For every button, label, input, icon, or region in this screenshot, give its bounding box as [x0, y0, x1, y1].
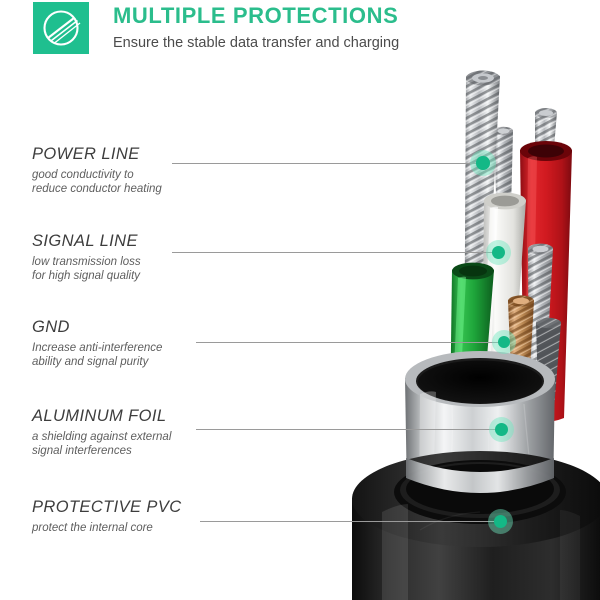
marker-core — [494, 515, 507, 528]
callout-power-line: POWER LINE good conductivity to reduce c… — [32, 145, 162, 196]
callout-protective-pvc-title: PROTECTIVE PVC — [32, 498, 182, 517]
callout-aluminum-foil-desc-line2: signal interferences — [32, 445, 171, 459]
leader-line-protective-pvc — [200, 521, 495, 522]
protective-pvc-marker-dot — [488, 509, 513, 534]
callout-aluminum-foil-title: ALUMINUM FOIL — [32, 407, 171, 426]
marker-core — [492, 246, 505, 259]
callout-signal-line-desc-line2: for high signal quality — [32, 270, 141, 284]
callout-gnd-desc-line1: Increase anti-interference — [32, 342, 162, 356]
callout-signal-line: SIGNAL LINE low transmission loss for hi… — [32, 232, 141, 283]
callout-aluminum-foil: ALUMINUM FOIL a shielding against extern… — [32, 407, 171, 458]
callout-signal-line-title: SIGNAL LINE — [32, 232, 141, 251]
leader-line-signal-line — [172, 252, 500, 253]
callout-protective-pvc-desc-line1: protect the internal core — [32, 522, 182, 536]
callout-signal-line-desc: low transmission loss for high signal qu… — [32, 256, 141, 283]
marker-core — [495, 423, 508, 436]
callout-protective-pvc: PROTECTIVE PVC protect the internal core — [32, 498, 182, 536]
page-title: MULTIPLE PROTECTIONS — [113, 3, 398, 29]
protective-pvc-jacket — [352, 450, 600, 600]
leader-line-gnd — [196, 342, 506, 343]
leader-line-aluminum-foil — [196, 429, 496, 430]
callout-gnd-desc: Increase anti-interference ability and s… — [32, 342, 162, 369]
marker-core — [476, 156, 490, 170]
callout-gnd-desc-line2: ability and signal purity — [32, 356, 162, 370]
callout-aluminum-foil-desc-line1: a shielding against external — [32, 431, 171, 445]
callout-gnd: GND Increase anti-interference ability a… — [32, 318, 162, 369]
callout-protective-pvc-desc: protect the internal core — [32, 522, 182, 536]
aluminum-foil-marker-dot — [489, 417, 514, 442]
callout-power-line-desc: good conductivity to reduce conductor he… — [32, 169, 162, 196]
callout-power-line-title: POWER LINE — [32, 145, 162, 164]
callout-aluminum-foil-desc: a shielding against external signal inte… — [32, 431, 171, 458]
callout-power-line-desc-line2: reduce conductor heating — [32, 183, 162, 197]
power-line-marker-dot — [470, 150, 496, 176]
leader-line-power-line — [172, 163, 482, 164]
callout-power-line-desc-line1: good conductivity to — [32, 169, 162, 183]
callout-signal-line-desc-line1: low transmission loss — [32, 256, 141, 270]
page-subtitle: Ensure the stable data transfer and char… — [113, 35, 399, 51]
signal-line-marker-dot — [486, 240, 511, 265]
header: MULTIPLE PROTECTIONS Ensure the stable d… — [0, 0, 600, 64]
cable-structure-infographic: MULTIPLE PROTECTIONS Ensure the stable d… — [0, 0, 600, 600]
gnd-marker-dot — [492, 330, 516, 354]
no-interference-circle-icon — [33, 2, 89, 54]
callout-gnd-title: GND — [32, 318, 162, 337]
